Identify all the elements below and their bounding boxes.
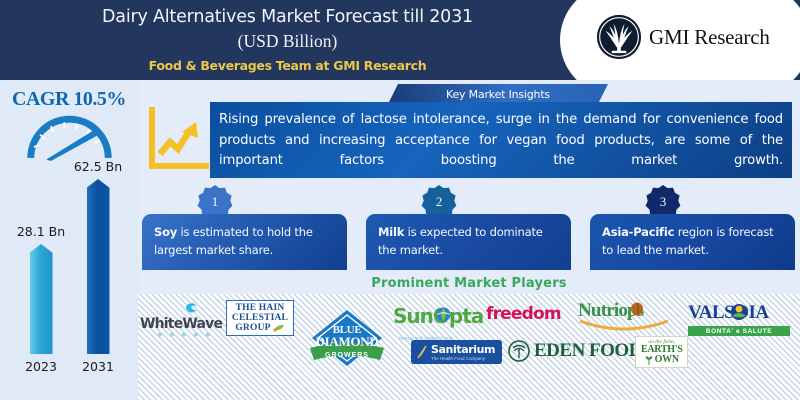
insight-card-1-rest: is estimated to hold the largest market … <box>154 225 313 257</box>
insight-card-3-number: 3 <box>660 194 667 210</box>
logo-eden-foods: EDEN FOODS <box>508 340 652 362</box>
logo-valsoia-text: VALSOIA <box>688 302 769 323</box>
cagr-chart-panel: CAGR 10.5% 28.1 Bn 2023 <box>0 80 138 400</box>
brand-logo: GMI Research <box>596 14 770 60</box>
insight-card-1-lead: Soy <box>154 225 177 239</box>
logo-nutriops: Nutriops <box>578 300 670 333</box>
logo-valsoia-sub: BONTA' e SALUTE <box>688 326 790 336</box>
logo-whitewave: WhiteWave <box>140 316 224 337</box>
insight-card-2-number: 2 <box>436 194 443 210</box>
key-market-insights-ribbon: Key Market Insights <box>388 84 608 104</box>
insight-card-2-text: Milk is expected to dominate the market. <box>378 223 559 259</box>
bar-2031 <box>87 179 110 354</box>
key-insight-box: Rising prevalence of lactose intolerance… <box>210 102 792 178</box>
brand-logo-text: GMI Research <box>649 25 770 50</box>
header-titles: Dairy Alternatives Market Forecast till … <box>0 5 575 53</box>
logo-sanitarium: Sanitarium The Health Food Company <box>411 340 502 364</box>
bar-group-2023: 28.1 Bn 2023 <box>18 224 64 374</box>
insight-card-1-number: 1 <box>212 194 219 210</box>
insight-card-3-text: Asia-Pacific region is forecast to lead … <box>602 223 783 259</box>
logo-blue-diamond: BLUE DIAMOND GROWERS <box>308 308 386 372</box>
cagr-value: CAGR 10.5% <box>0 88 138 111</box>
logo-freedom-text: freedom <box>486 304 561 324</box>
nutriops-swoosh-icon <box>578 319 670 333</box>
header-bar: Dairy Alternatives Market Forecast till … <box>0 0 800 80</box>
bar-value-2023: 28.1 Bn <box>17 224 65 239</box>
whitewave-dots-icon <box>154 332 224 337</box>
logo-hain-line-2: CELESTIAL <box>231 313 289 323</box>
logo-hain-celestial: THE HAIN CELESTIAL GROUP <box>226 300 294 336</box>
bar-2023 <box>30 244 53 354</box>
sanitarium-wheat-icon <box>416 345 428 359</box>
content-panel: Key Market Insights Rising prevalence of… <box>138 80 800 400</box>
hain-leaf-icon <box>273 324 285 332</box>
logo-sanitarium-sub: The Health Food Company <box>431 356 495 361</box>
bar-label-2023: 2023 <box>25 359 57 374</box>
growth-chart-arrow-icon <box>146 104 210 176</box>
eden-foods-tree-icon <box>508 340 530 362</box>
earths-own-leaf-icon <box>645 355 653 365</box>
logo-blue-diamond-line-2: DIAMOND <box>308 337 386 347</box>
logo-earths-own: on the farm, EARTH'S OWN <box>635 336 688 368</box>
logo-whitewave-text: WhiteWave <box>140 316 224 332</box>
key-market-insights-label: Key Market Insights <box>446 88 550 101</box>
team-subtitle-text: Food & Beverages Team at GMI Research <box>149 58 427 73</box>
gmi-palm-fan-logo-icon <box>596 14 642 60</box>
bar-chart: 28.1 Bn 2023 62.5 Bn 2031 <box>0 165 138 400</box>
team-subtitle: Food & Beverages Team at GMI Research <box>0 57 575 75</box>
logo-valsoia: VALSOIA BONTA' e SALUTE <box>688 302 790 336</box>
market-players-strip: WhiteWave THE HAIN CELESTIAL GROUP <box>138 294 800 400</box>
nutriops-nut-icon <box>630 302 644 316</box>
speedometer-gauge-icon <box>22 113 117 161</box>
insight-card-3-body: Asia-Pacific region is forecast to lead … <box>590 214 795 270</box>
logo-blue-diamond-sub: GROWERS <box>308 352 386 359</box>
insight-card-2-body: Milk is expected to dominate the market. <box>366 214 571 270</box>
key-insight-text: Rising prevalence of lactose intolerance… <box>219 110 783 172</box>
insight-card-3-lead: Asia-Pacific <box>602 225 674 239</box>
logo-freedom: freedom <box>486 304 561 324</box>
insight-card-1-body: Soy is estimated to hold the largest mar… <box>142 214 347 270</box>
logo-hain-line-1: THE HAIN <box>231 303 289 313</box>
logo-earths-own-line-2: OWN <box>655 355 679 365</box>
valsoia-sun-leaf-icon <box>730 303 748 321</box>
insight-card-2-lead: Milk <box>378 225 404 239</box>
whitewave-drop-icon <box>184 302 200 316</box>
prominent-market-players-title: Prominent Market Players <box>138 276 800 291</box>
logo-hain-line-3: GROUP <box>235 323 270 333</box>
bar-value-2031: 62.5 Bn <box>74 159 122 174</box>
page-title: Dairy Alternatives Market Forecast till … <box>0 5 575 29</box>
brand-logo-pill: GMI Research <box>560 0 800 80</box>
logo-sanitarium-text: Sanitarium <box>431 343 495 356</box>
bar-group-2031: 62.5 Bn 2031 <box>75 159 121 374</box>
bar-label-2031: 2031 <box>82 359 114 374</box>
page-subtitle-unit: (USD Billion) <box>0 29 575 53</box>
insight-card-1-text: Soy is estimated to hold the largest mar… <box>154 223 335 259</box>
infographic-root: Dairy Alternatives Market Forecast till … <box>0 0 800 400</box>
sunopta-globe-icon <box>436 307 451 322</box>
